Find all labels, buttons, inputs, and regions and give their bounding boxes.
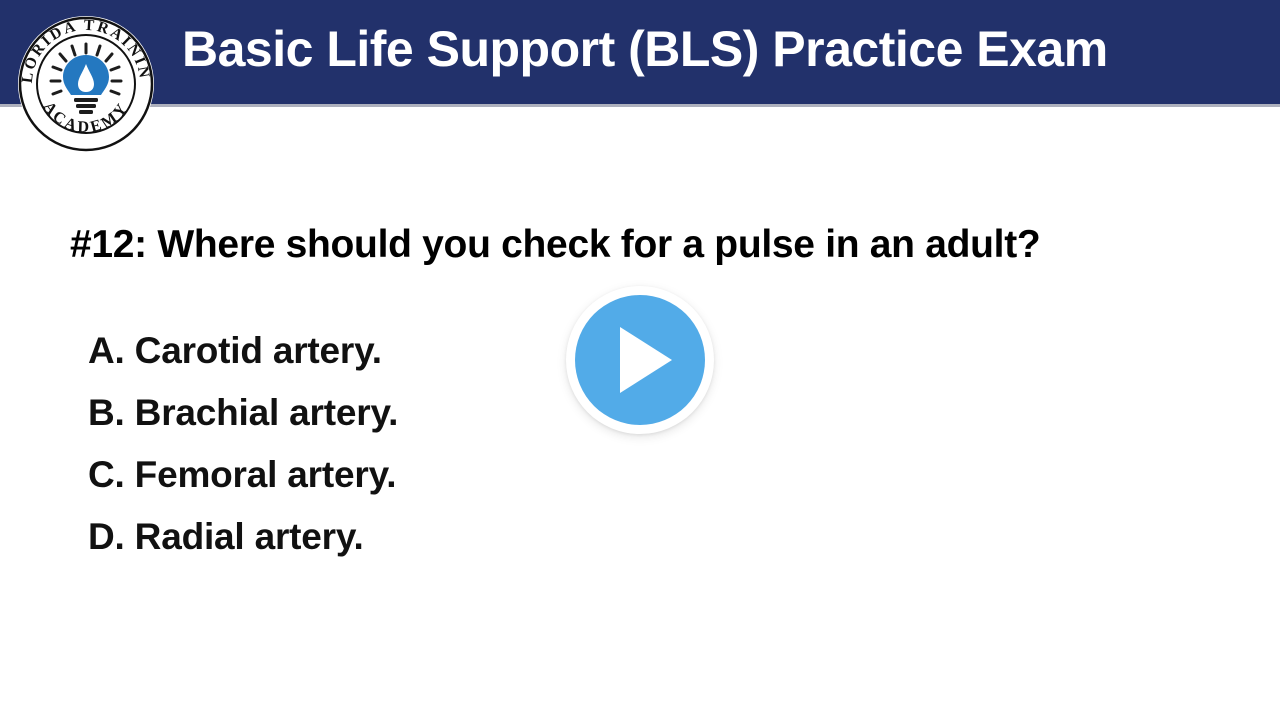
- page-title: Basic Life Support (BLS) Practice Exam: [182, 13, 1108, 85]
- answer-option-a[interactable]: A. Carotid artery.: [88, 320, 528, 382]
- answer-options-list: A. Carotid artery. B. Brachial artery. C…: [88, 320, 528, 568]
- play-button-disc: [575, 295, 705, 425]
- answer-option-d[interactable]: D. Radial artery.: [88, 506, 528, 568]
- florida-training-academy-logo: FLORIDA TRAINING ACADEMY: [14, 12, 158, 156]
- answer-option-c[interactable]: C. Femoral artery.: [88, 444, 528, 506]
- play-icon: [620, 327, 672, 393]
- header-divider: [0, 104, 1280, 107]
- answer-option-b[interactable]: B. Brachial artery.: [88, 382, 528, 444]
- question-text: #12: Where should you check for a pulse …: [70, 217, 1250, 273]
- play-button[interactable]: [566, 286, 714, 434]
